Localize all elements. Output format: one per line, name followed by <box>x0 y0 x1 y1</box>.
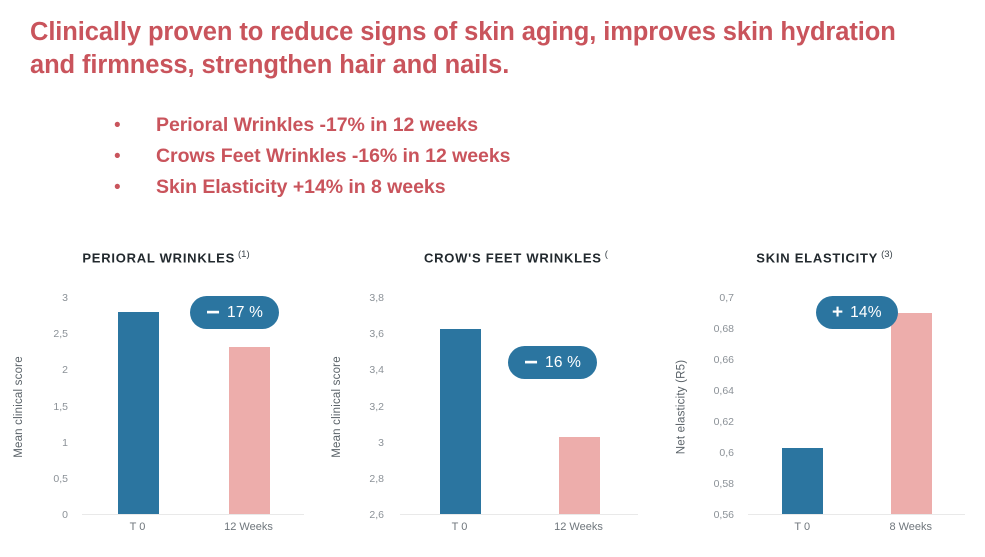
y-axis-ticks: 0,560,580,60,620,640,660,680,7 <box>690 298 738 515</box>
bar-baseline <box>118 312 159 514</box>
y-tick-label: 0,56 <box>714 509 734 521</box>
y-tick-label: 2,5 <box>53 328 68 340</box>
plot-area: Mean clinical score 2,62,833,23,43,63,8 … <box>322 298 660 557</box>
page-title: Clinically proven to reduce signs of ski… <box>30 16 910 82</box>
plot-area: Net elasticity (R5) 0,560,580,60,620,640… <box>664 298 985 557</box>
bar-baseline <box>440 329 481 514</box>
chart-title-superscript: (1) <box>238 249 250 260</box>
chart-crows-feet-wrinkles: CROW'S FEET WRINKLES( Mean clinical scor… <box>322 240 660 557</box>
chart-title-text: CROW'S FEET WRINKLES <box>424 250 602 265</box>
y-tick-label: 1 <box>62 437 68 449</box>
y-tick-label: 3,8 <box>369 292 384 304</box>
x-tick-label: 8 Weeks <box>889 521 932 533</box>
chart-title-superscript: (3) <box>881 249 893 260</box>
x-axis-ticks: T 012 Weeks <box>400 521 638 539</box>
list-item: • Skin Elasticity +14% in 8 weeks <box>108 176 748 199</box>
y-axis-label: Mean clinical score <box>10 298 28 515</box>
y-tick-label: 0,6 <box>719 447 734 459</box>
y-tick-label: 2,8 <box>369 473 384 485</box>
bar-followup <box>891 313 932 514</box>
y-tick-label: 0,7 <box>719 292 734 304</box>
bars-container <box>748 298 965 515</box>
y-axis-ticks: 00,511,522,53 <box>32 298 72 515</box>
bars-container <box>400 298 638 515</box>
y-tick-label: 2 <box>62 364 68 376</box>
plot-area: Mean clinical score 00,511,522,53 T 012 … <box>10 298 322 557</box>
chart-title-text: PERIORAL WRINKLES <box>82 250 235 265</box>
x-tick-label: T 0 <box>794 521 810 533</box>
x-axis-ticks: T 012 Weeks <box>82 521 304 539</box>
y-tick-label: 0 <box>62 509 68 521</box>
y-tick-label: 1,5 <box>53 401 68 413</box>
y-tick-label: 0,66 <box>714 354 734 366</box>
x-tick-label: T 0 <box>130 521 146 533</box>
list-item: • Perioral Wrinkles -17% in 12 weeks <box>108 114 748 137</box>
status-badge: − 17 % <box>190 296 279 329</box>
chart-title-superscript: ( <box>605 249 608 260</box>
bullet-icon: • <box>108 116 156 135</box>
status-badge: + 14% <box>816 296 898 329</box>
list-item: • Crows Feet Wrinkles -16% in 12 weeks <box>108 145 748 168</box>
list-item-label: Crows Feet Wrinkles -16% in 12 weeks <box>156 145 510 168</box>
list-item-label: Perioral Wrinkles -17% in 12 weeks <box>156 114 478 137</box>
chart-title: CROW'S FEET WRINKLES( <box>424 249 674 265</box>
status-badge: − 16 % <box>508 346 597 379</box>
y-tick-label: 0,5 <box>53 473 68 485</box>
x-tick-label: 12 Weeks <box>224 521 273 533</box>
x-tick-label: 12 Weeks <box>554 521 603 533</box>
bullet-icon: • <box>108 178 156 197</box>
bullet-icon: • <box>108 147 156 166</box>
bar-followup <box>559 437 600 514</box>
y-axis-ticks: 2,62,833,23,43,63,8 <box>344 298 388 515</box>
benefits-list: • Perioral Wrinkles -17% in 12 weeks • C… <box>108 114 748 207</box>
y-tick-label: 3 <box>62 292 68 304</box>
y-axis-label: Net elasticity (R5) <box>672 298 690 515</box>
chart-skin-elasticity: SKIN ELASTICITY(3) Net elasticity (R5) 0… <box>664 240 985 557</box>
bar-followup <box>229 347 270 514</box>
y-tick-label: 0,58 <box>714 478 734 490</box>
chart-title: PERIORAL WRINKLES(1) <box>10 249 322 265</box>
y-tick-label: 0,62 <box>714 416 734 428</box>
x-tick-label: T 0 <box>452 521 468 533</box>
bar-baseline <box>782 448 823 514</box>
x-axis-ticks: T 08 Weeks <box>748 521 965 539</box>
badge-value: 16 % <box>545 354 581 372</box>
badge-value: 17 % <box>227 304 263 322</box>
y-tick-label: 0,64 <box>714 385 734 397</box>
y-tick-label: 3,4 <box>369 364 384 376</box>
y-tick-label: 3 <box>378 437 384 449</box>
chart-title: SKIN ELASTICITY(3) <box>664 249 985 265</box>
bars-container <box>82 298 304 515</box>
y-tick-label: 0,68 <box>714 323 734 335</box>
badge-value: 14% <box>850 304 882 322</box>
y-tick-label: 3,2 <box>369 401 384 413</box>
charts-row: PERIORAL WRINKLES(1) Mean clinical score… <box>0 240 985 557</box>
y-tick-label: 3,6 <box>369 328 384 340</box>
chart-title-text: SKIN ELASTICITY <box>756 250 878 265</box>
slide-canvas: Clinically proven to reduce signs of ski… <box>0 0 985 557</box>
chart-perioral-wrinkles: PERIORAL WRINKLES(1) Mean clinical score… <box>10 240 322 557</box>
list-item-label: Skin Elasticity +14% in 8 weeks <box>156 176 445 199</box>
y-tick-label: 2,6 <box>369 509 384 521</box>
